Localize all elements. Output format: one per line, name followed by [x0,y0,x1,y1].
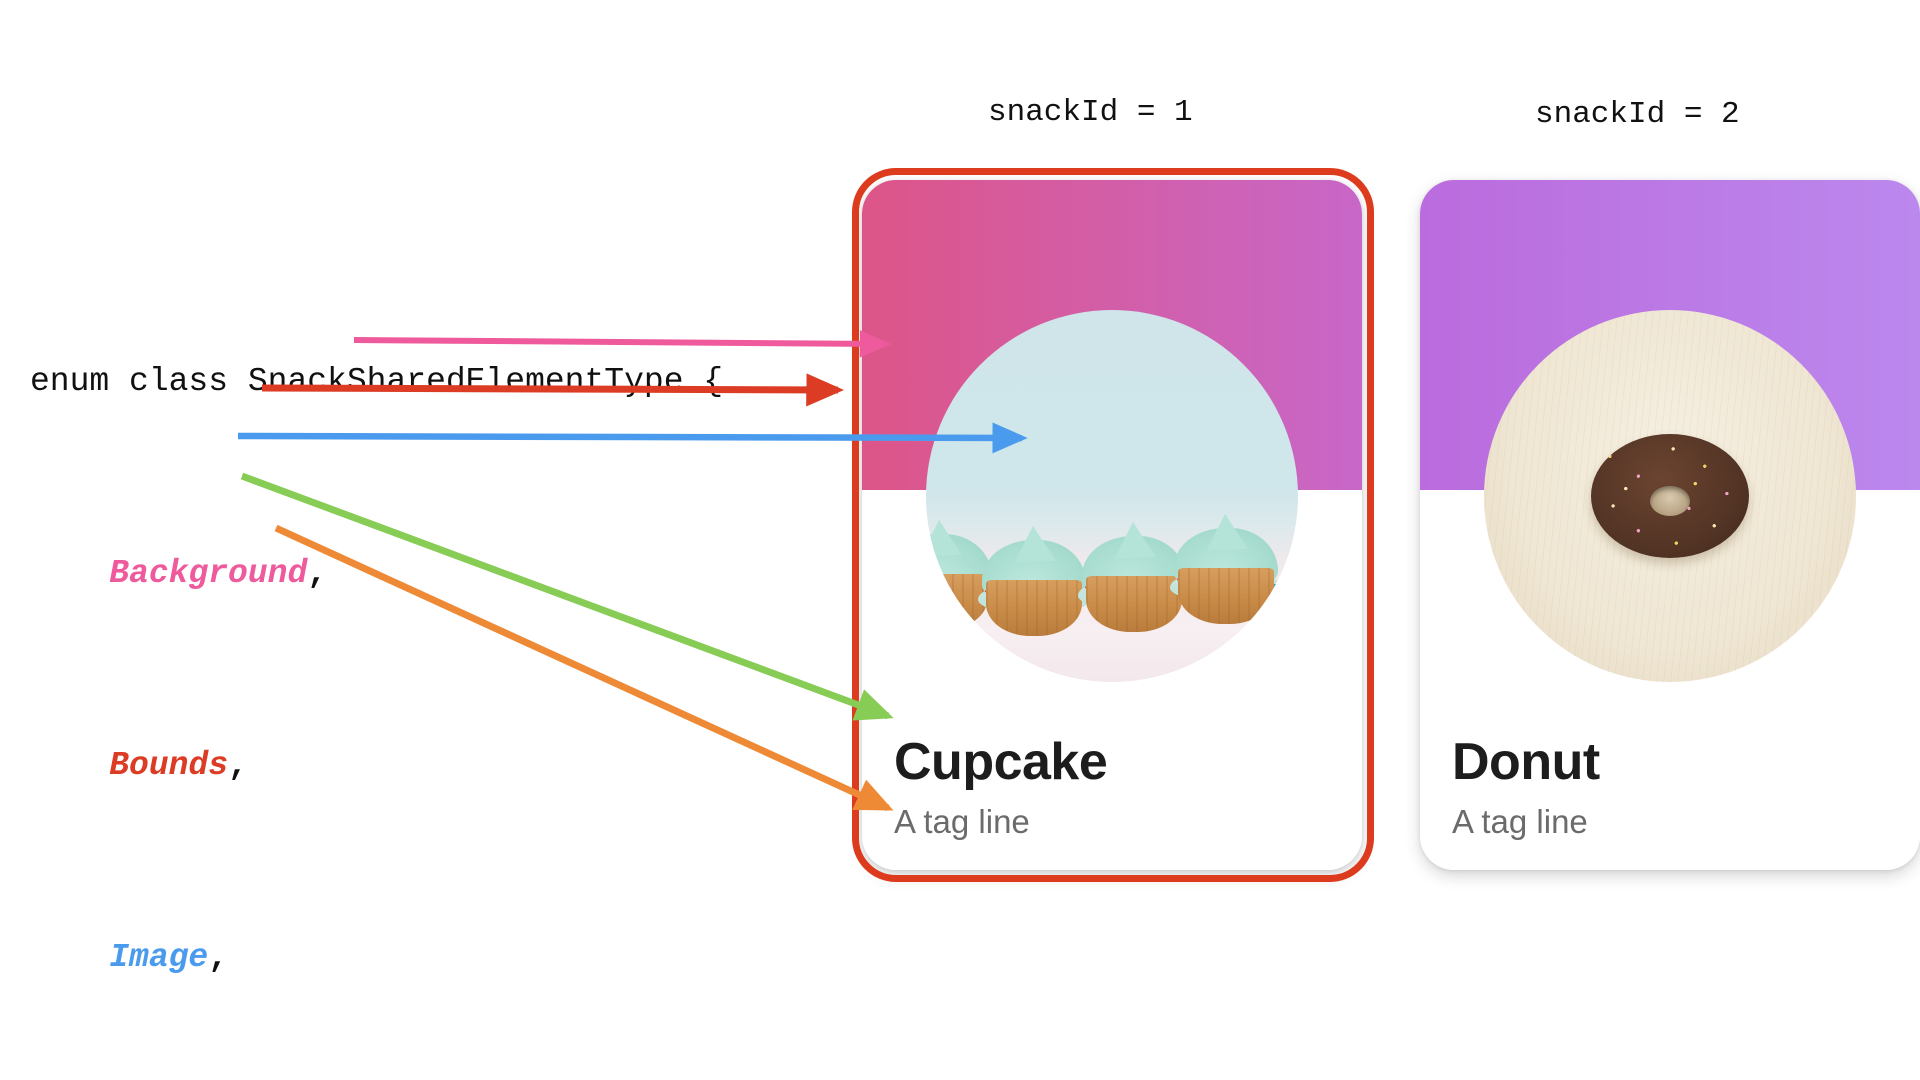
cupcake-liner [986,580,1082,636]
cupcake-photo [926,310,1298,682]
comma-0: , [307,555,327,592]
donut-photo [1484,310,1856,682]
card-image-cupcake [926,310,1298,682]
donut-hole [1650,486,1690,516]
cupcake-frosting-peak [1204,513,1248,551]
card-tagline-donut: A tag line [1452,804,1888,840]
cupcake-liner [1178,568,1274,624]
comma-2: , [208,939,228,976]
code-line-header: enum class SnackSharedElementType { [30,358,723,406]
snack-id-label-1: snackId = 1 [988,95,1193,130]
enum-entry-bounds: Bounds [109,747,228,784]
card-tagline-cupcake: A tag line [894,804,1330,840]
donut-ring [1591,434,1749,558]
cupcake-frosting-peak [1012,525,1056,563]
code-line-image: Image, [30,934,723,982]
snack-card-cupcake[interactable]: Cupcake A tag line [862,180,1362,870]
code-line-background: Background, [30,550,723,598]
code-block: enum class SnackSharedElementType { Back… [30,262,723,1080]
cupcake-frosting-peak [926,519,962,557]
card-body-2: Donut A tag line [1420,735,1920,870]
diagram-canvas: enum class SnackSharedElementType { Back… [0,0,1920,1080]
card-title-donut: Donut [1452,735,1888,790]
enum-entry-image: Image [109,939,208,976]
cupcake-frosting-peak [1112,521,1156,559]
snack-card-donut[interactable]: Donut A tag line [1420,180,1920,870]
code-line-bounds: Bounds, [30,742,723,790]
comma-1: , [228,747,248,784]
cupcake-liner [1086,576,1182,632]
card-image-donut [1484,310,1856,682]
card-title-cupcake: Cupcake [894,735,1330,790]
card-body-1: Cupcake A tag line [862,735,1362,870]
enum-entry-background: Background [109,555,307,592]
snack-id-label-2: snackId = 2 [1535,97,1740,132]
